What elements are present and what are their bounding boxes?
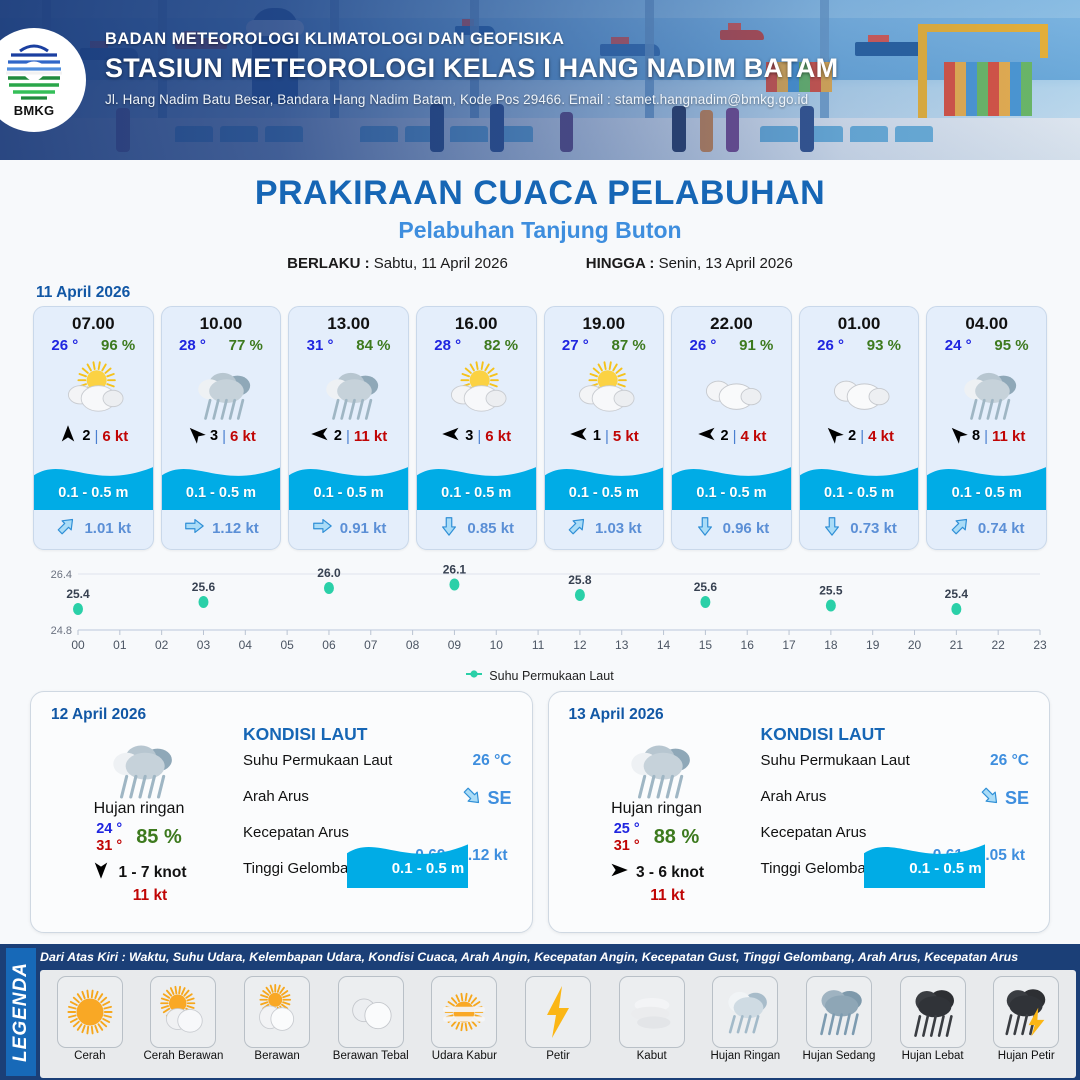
wind-separator: | <box>346 428 350 445</box>
svg-text:05: 05 <box>280 638 294 652</box>
card-wave: 0.1 - 0.5 m <box>34 454 153 510</box>
hourly-card: 13.00 31 ° 84 % 2 | 11 kt 0.1 - 0.5 m 0.… <box>288 306 409 550</box>
wind-direction-icon <box>697 424 717 448</box>
hujan-ringan-icon <box>289 354 408 420</box>
wind-direction-icon <box>569 424 589 448</box>
card-current: 0.73 kt <box>800 510 919 549</box>
legend-item: Hujan Lebat <box>886 976 980 1076</box>
card-humidity: 91 % <box>739 337 773 354</box>
card-temperature: 31 ° <box>307 337 334 354</box>
sst-chart-svg: 26.424.800010203040506070809101112131415… <box>30 564 1050 660</box>
legend-item: Petir <box>511 976 605 1076</box>
cloud-thick-icon <box>338 976 404 1048</box>
wind-separator: | <box>860 428 864 445</box>
daily-wave-value: 0.1 - 0.5 m <box>864 860 1027 877</box>
card-current: 0.96 kt <box>672 510 791 549</box>
header-text-block: BADAN METEOROLOGI KLIMATOLOGI DAN GEOFIS… <box>105 30 1055 107</box>
card-wind: 3 | 6 kt <box>417 420 536 454</box>
hingga-value: Senin, 13 April 2026 <box>659 255 793 272</box>
svg-text:15: 15 <box>699 638 713 652</box>
haze-icon <box>431 976 497 1048</box>
card-wind: 2 | 4 kt <box>672 420 791 454</box>
daily-temp-min: 24 ° <box>96 821 122 838</box>
card-wave: 0.1 - 0.5 m <box>417 454 536 510</box>
wind-direction-icon <box>58 424 78 448</box>
legend-item-label: Hujan Petir <box>998 1050 1055 1062</box>
card-temp-humidity: 24 ° 95 % <box>927 336 1046 354</box>
daily-wind-gust: 11 kt <box>39 887 239 905</box>
hourly-card: 16.00 28 ° 82 % 3 | 6 kt 0.1 - 0.5 m 0.8… <box>416 306 537 550</box>
card-temperature: 24 ° <box>945 337 972 354</box>
wind-direction-icon <box>186 424 206 448</box>
svg-text:01: 01 <box>113 638 127 652</box>
card-wave: 0.1 - 0.5 m <box>162 454 281 510</box>
card-temperature: 26 ° <box>690 337 717 354</box>
card-current: 0.74 kt <box>927 510 1046 549</box>
hujan-ringan-icon <box>162 354 281 420</box>
svg-text:10: 10 <box>490 638 504 652</box>
card-wind-speed: 3 <box>210 428 218 444</box>
daily-date: 12 April 2026 <box>51 706 146 724</box>
daily-temp-min: 25 ° <box>614 821 640 838</box>
card-temp-humidity: 28 ° 82 % <box>417 336 536 354</box>
hourly-card: 07.00 26 ° 96 % 2 | 6 kt 0.1 - 0.5 m 1.0… <box>33 306 154 550</box>
berawan-icon <box>800 354 919 420</box>
daily-wave-graphic: 0.1 - 0.5 m <box>864 832 1027 884</box>
svg-text:08: 08 <box>406 638 420 652</box>
card-wind-gust: 4 kt <box>741 428 767 445</box>
daily-condition: Hujan ringan <box>39 800 239 818</box>
wind-direction-icon <box>824 424 844 448</box>
daily-condition: Hujan ringan <box>557 800 757 818</box>
card-time: 16.00 <box>417 307 536 336</box>
card-wave-height: 0.1 - 0.5 m <box>800 485 919 501</box>
legend-item: Udara Kabur <box>418 976 512 1076</box>
sea-conditions-title: KONDISI LAUT <box>761 724 1036 745</box>
card-wave-height: 0.1 - 0.5 m <box>289 485 408 501</box>
card-wave: 0.1 - 0.5 m <box>545 454 664 510</box>
card-current: 1.12 kt <box>162 510 281 549</box>
svg-text:20: 20 <box>908 638 922 652</box>
light-rain-icon <box>712 976 778 1048</box>
daily-wind: 1 - 7 knot <box>39 860 239 885</box>
berlaku-value: Sabtu, 11 April 2026 <box>374 255 508 272</box>
legend-item: Hujan Sedang <box>792 976 886 1076</box>
card-wind-speed: 1 <box>593 428 601 444</box>
sst-chart: 26.424.800010203040506070809101112131415… <box>30 564 1050 664</box>
svg-text:12: 12 <box>573 638 587 652</box>
sst-label: Suhu Permukaan Laut <box>243 752 392 769</box>
sun-icon <box>57 976 123 1048</box>
card-wave: 0.1 - 0.5 m <box>289 454 408 510</box>
card-wind: 2 | 6 kt <box>34 420 153 454</box>
card-temperature: 28 ° <box>179 337 206 354</box>
hourly-card: 04.00 24 ° 95 % 8 | 11 kt 0.1 - 0.5 m 0.… <box>926 306 1047 550</box>
hourly-card: 10.00 28 ° 77 % 3 | 6 kt 0.1 - 0.5 m 1.1… <box>161 306 282 550</box>
wind-separator: | <box>94 428 98 445</box>
card-wind-gust: 6 kt <box>485 428 511 445</box>
hujan-ringan-icon <box>39 728 239 796</box>
card-temp-humidity: 28 ° 77 % <box>162 336 281 354</box>
daily-wind-range: 1 - 7 knot <box>118 864 186 882</box>
card-temperature: 27 ° <box>562 337 589 354</box>
svg-text:21: 21 <box>950 638 964 652</box>
svg-text:13: 13 <box>615 638 629 652</box>
daily-left-block: Hujan ringan 25 ° 31 ° 88 % 3 - 6 knot 1… <box>557 728 757 905</box>
card-wind-speed: 2 <box>334 428 342 444</box>
card-wave-height: 0.1 - 0.5 m <box>162 485 281 501</box>
svg-text:00: 00 <box>71 638 85 652</box>
chart-legend-marker-icon <box>466 668 482 683</box>
daily-humidity: 85 % <box>136 826 182 849</box>
svg-text:25.5: 25.5 <box>819 584 843 598</box>
cerah-berawan-icon <box>417 354 536 420</box>
daily-temp-max: 31 ° <box>96 838 122 855</box>
card-time: 07.00 <box>34 307 153 336</box>
card-temp-humidity: 27 ° 87 % <box>545 336 664 354</box>
card-current: 1.01 kt <box>34 510 153 549</box>
agency-name: BADAN METEOROLOGI KLIMATOLOGI DAN GEOFIS… <box>105 30 1055 49</box>
card-current-speed: 0.96 kt <box>723 520 770 537</box>
daily-wind-gust: 11 kt <box>557 887 757 905</box>
legend-item: Cerah <box>43 976 137 1076</box>
hingga-label: HINGGA : <box>586 255 655 272</box>
daily-forecast-row: 12 April 2026 Hujan ringan 24 ° 31 ° 85 … <box>0 683 1080 933</box>
sun-cloud-icon <box>150 976 216 1048</box>
daily-wind: 3 - 6 knot <box>557 860 757 885</box>
svg-text:11: 11 <box>532 638 545 652</box>
current-direction-row: Arah Arus SE <box>243 788 518 824</box>
card-wind-gust: 11 kt <box>992 428 1025 445</box>
card-wind-speed: 3 <box>465 428 473 444</box>
svg-text:03: 03 <box>197 638 211 652</box>
card-current: 0.91 kt <box>289 510 408 549</box>
svg-text:22: 22 <box>991 638 1005 652</box>
legend-item: Berawan <box>230 976 324 1076</box>
card-temp-humidity: 26 ° 93 % <box>800 336 919 354</box>
card-time: 04.00 <box>927 307 1046 336</box>
legend-item-label: Cerah <box>74 1050 105 1062</box>
card-wind-speed: 2 <box>848 428 856 444</box>
legend-items: Cerah Cerah Berawan Berawan Berawan Teba… <box>40 970 1076 1078</box>
svg-text:19: 19 <box>866 638 880 652</box>
current-speed-label: Kecepatan Arus <box>243 824 349 841</box>
current-direction-value-group: SE <box>979 785 1029 812</box>
wind-direction-icon <box>948 424 968 448</box>
thunderstorm-icon <box>993 976 1059 1048</box>
legend-item: Hujan Petir <box>979 976 1073 1076</box>
card-temp-humidity: 26 ° 91 % <box>672 336 791 354</box>
svg-text:17: 17 <box>782 638 796 652</box>
card-wind: 2 | 4 kt <box>800 420 919 454</box>
card-time: 19.00 <box>545 307 664 336</box>
bmkg-logo-icon <box>3 42 65 102</box>
card-current-speed: 1.01 kt <box>84 520 131 537</box>
card-wave-height: 0.1 - 0.5 m <box>417 485 536 501</box>
current-direction-icon <box>949 515 971 541</box>
daily-temp-column: 24 ° 31 ° <box>96 821 122 854</box>
legend-item: Kabut <box>605 976 699 1076</box>
hourly-day-label: 11 April 2026 <box>36 284 1080 302</box>
svg-text:14: 14 <box>657 638 671 652</box>
daily-humidity: 88 % <box>654 826 700 849</box>
card-wave: 0.1 - 0.5 m <box>800 454 919 510</box>
card-temp-humidity: 31 ° 84 % <box>289 336 408 354</box>
page-header: BMKG BADAN METEOROLOGI KLIMATOLOGI DAN G… <box>0 0 1080 160</box>
card-time: 13.00 <box>289 307 408 336</box>
svg-text:18: 18 <box>824 638 838 652</box>
svg-text:24.8: 24.8 <box>51 625 72 637</box>
legend-note: Dari Atas Kiri : Waktu, Suhu Udara, Kele… <box>40 950 1076 964</box>
svg-text:26.0: 26.0 <box>317 566 341 580</box>
cloud-sun-small-icon <box>244 976 310 1048</box>
berawan-icon <box>672 354 791 420</box>
card-humidity: 96 % <box>101 337 135 354</box>
legend-item-label: Cerah Berawan <box>144 1050 224 1062</box>
daily-left-block: Hujan ringan 24 ° 31 ° 85 % 1 - 7 knot 1… <box>39 728 239 905</box>
chart-legend-label: Suhu Permukaan Laut <box>489 669 613 683</box>
daily-wind-range: 3 - 6 knot <box>636 864 704 882</box>
daily-temp-column: 25 ° 31 ° <box>614 821 640 854</box>
card-temp-humidity: 26 ° 96 % <box>34 336 153 354</box>
current-direction-icon <box>566 515 588 541</box>
card-wind-gust: 6 kt <box>230 428 256 445</box>
title-block: PRAKIRAAN CUACA PELABUHAN Pelabuhan Tanj… <box>0 160 1080 272</box>
wind-direction-icon <box>91 860 111 885</box>
svg-text:06: 06 <box>322 638 336 652</box>
wind-separator: | <box>477 428 481 445</box>
card-wave-height: 0.1 - 0.5 m <box>545 485 664 501</box>
station-address: Jl. Hang Nadim Batu Besar, Bandara Hang … <box>105 92 1055 107</box>
card-temperature: 26 ° <box>51 337 78 354</box>
current-direction-icon <box>183 515 205 541</box>
sst-value: 26 °C <box>473 752 512 770</box>
card-time: 10.00 <box>162 307 281 336</box>
card-current-speed: 0.91 kt <box>340 520 387 537</box>
card-current-speed: 0.85 kt <box>467 520 514 537</box>
card-wind-gust: 6 kt <box>102 428 128 445</box>
legend-section: LEGENDA Dari Atas Kiri : Waktu, Suhu Uda… <box>0 944 1080 1080</box>
card-current-speed: 0.74 kt <box>978 520 1025 537</box>
current-direction-icon <box>979 785 1001 812</box>
card-current-speed: 0.73 kt <box>850 520 897 537</box>
card-current: 1.03 kt <box>545 510 664 549</box>
legend-item: Berawan Tebal <box>324 976 418 1076</box>
card-wave-height: 0.1 - 0.5 m <box>34 485 153 501</box>
legend-item-label: Hujan Sedang <box>802 1050 875 1062</box>
bmkg-logo-label: BMKG <box>14 103 55 118</box>
hujan-ringan-icon <box>927 354 1046 420</box>
card-humidity: 84 % <box>356 337 390 354</box>
current-direction-icon <box>55 515 77 541</box>
chart-legend: Suhu Permukaan Laut <box>0 668 1080 683</box>
cerah-berawan-icon <box>34 354 153 420</box>
wind-separator: | <box>984 428 988 445</box>
station-name: STASIUN METEOROLOGI KELAS I HANG NADIM B… <box>105 53 1055 84</box>
lightning-icon <box>525 976 591 1048</box>
current-direction-icon <box>311 515 333 541</box>
svg-text:25.4: 25.4 <box>945 587 969 601</box>
legend-item: Hujan Ringan <box>698 976 792 1076</box>
card-humidity: 87 % <box>612 337 646 354</box>
validity-row: BERLAKU : Sabtu, 11 April 2026 HINGGA : … <box>0 255 1080 272</box>
card-time: 01.00 <box>800 307 919 336</box>
card-wave: 0.1 - 0.5 m <box>672 454 791 510</box>
card-wind-gust: 11 kt <box>354 428 387 445</box>
card-humidity: 93 % <box>867 337 901 354</box>
card-current-speed: 1.12 kt <box>212 520 259 537</box>
card-time: 22.00 <box>672 307 791 336</box>
svg-text:04: 04 <box>239 638 253 652</box>
current-direction-value-group: SE <box>461 785 511 812</box>
current-direction-value: SE <box>487 788 511 809</box>
card-wind-speed: 2 <box>721 428 729 444</box>
card-temperature: 28 ° <box>434 337 461 354</box>
svg-text:25.8: 25.8 <box>568 573 592 587</box>
heavy-rain-icon <box>900 976 966 1048</box>
current-direction-label: Arah Arus <box>243 788 309 805</box>
current-speed-label: Kecepatan Arus <box>761 824 867 841</box>
card-wave: 0.1 - 0.5 m <box>927 454 1046 510</box>
svg-text:25.4: 25.4 <box>66 587 90 601</box>
current-direction-icon <box>821 515 843 541</box>
card-wind-gust: 4 kt <box>868 428 894 445</box>
current-direction-icon <box>694 515 716 541</box>
daily-wave-graphic: 0.1 - 0.5 m <box>347 832 510 884</box>
card-humidity: 77 % <box>229 337 263 354</box>
legend-item-label: Udara Kabur <box>432 1050 497 1062</box>
svg-text:25.6: 25.6 <box>192 580 216 594</box>
sst-label: Suhu Permukaan Laut <box>761 752 910 769</box>
cerah-berawan-icon <box>545 354 664 420</box>
hujan-ringan-icon <box>557 728 757 796</box>
fog-icon <box>619 976 685 1048</box>
wind-separator: | <box>605 428 609 445</box>
daily-forecast-panel: 13 April 2026 Hujan ringan 25 ° 31 ° 88 … <box>548 691 1051 933</box>
card-humidity: 95 % <box>994 337 1028 354</box>
daily-sea-block: KONDISI LAUT Suhu Permukaan Laut 26 °C A… <box>243 724 518 896</box>
current-direction-value: SE <box>1005 788 1029 809</box>
card-wave-height: 0.1 - 0.5 m <box>672 485 791 501</box>
sst-value: 26 °C <box>990 752 1029 770</box>
current-direction-icon <box>461 785 483 812</box>
svg-text:07: 07 <box>364 638 378 652</box>
hourly-card: 22.00 26 ° 91 % 2 | 4 kt 0.1 - 0.5 m 0.9… <box>671 306 792 550</box>
current-direction-icon <box>438 515 460 541</box>
svg-text:26.4: 26.4 <box>51 569 72 581</box>
card-wind: 3 | 6 kt <box>162 420 281 454</box>
svg-text:26.1: 26.1 <box>443 563 467 577</box>
card-wind: 1 | 5 kt <box>545 420 664 454</box>
card-current: 0.85 kt <box>417 510 536 549</box>
card-temperature: 26 ° <box>817 337 844 354</box>
daily-sea-block: KONDISI LAUT Suhu Permukaan Laut 26 °C A… <box>761 724 1036 896</box>
svg-text:25.6: 25.6 <box>694 580 718 594</box>
page-subtitle: Pelabuhan Tanjung Buton <box>0 217 1080 244</box>
sea-conditions-title: KONDISI LAUT <box>243 724 518 745</box>
wind-separator: | <box>222 428 226 445</box>
daily-temps: 24 ° 31 ° 85 % <box>39 821 239 854</box>
card-wave-height: 0.1 - 0.5 m <box>927 485 1046 501</box>
legend-side-label: LEGENDA <box>10 962 32 1062</box>
svg-text:02: 02 <box>155 638 169 652</box>
card-current-speed: 1.03 kt <box>595 520 642 537</box>
hingga-group: HINGGA : Senin, 13 April 2026 <box>586 255 793 272</box>
wind-separator: | <box>733 428 737 445</box>
daily-date: 13 April 2026 <box>569 706 664 724</box>
hourly-card: 19.00 27 ° 87 % 1 | 5 kt 0.1 - 0.5 m 1.0… <box>544 306 665 550</box>
svg-text:23: 23 <box>1033 638 1047 652</box>
page-title: PRAKIRAAN CUACA PELABUHAN <box>0 174 1080 213</box>
moderate-rain-icon <box>806 976 872 1048</box>
legend-side-banner: LEGENDA <box>6 948 36 1076</box>
svg-text:16: 16 <box>741 638 755 652</box>
card-humidity: 82 % <box>484 337 518 354</box>
legend-item-label: Kabut <box>637 1050 667 1062</box>
wind-direction-icon <box>310 424 330 448</box>
card-wind: 2 | 11 kt <box>289 420 408 454</box>
daily-temp-max: 31 ° <box>614 838 640 855</box>
card-wind: 8 | 11 kt <box>927 420 1046 454</box>
legend-item-label: Berawan Tebal <box>333 1050 409 1062</box>
sst-row: Suhu Permukaan Laut 26 °C <box>243 752 518 788</box>
card-wind-gust: 5 kt <box>613 428 639 445</box>
card-wind-speed: 2 <box>82 428 90 444</box>
card-wind-speed: 8 <box>972 428 980 444</box>
wind-direction-icon <box>441 424 461 448</box>
hourly-card: 01.00 26 ° 93 % 2 | 4 kt 0.1 - 0.5 m 0.7… <box>799 306 920 550</box>
legend-item-label: Hujan Ringan <box>710 1050 780 1062</box>
legend-item-label: Hujan Lebat <box>902 1050 964 1062</box>
berlaku-label: BERLAKU : <box>287 255 370 272</box>
hourly-forecast-cards: 07.00 26 ° 96 % 2 | 6 kt 0.1 - 0.5 m 1.0… <box>0 306 1080 550</box>
daily-temps: 25 ° 31 ° 88 % <box>557 821 757 854</box>
current-direction-row: Arah Arus SE <box>761 788 1036 824</box>
svg-text:09: 09 <box>448 638 462 652</box>
legend-item-label: Petir <box>546 1050 570 1062</box>
wind-direction-icon <box>609 860 629 885</box>
legend-item: Cerah Berawan <box>137 976 231 1076</box>
current-direction-label: Arah Arus <box>761 788 827 805</box>
legend-item-label: Berawan <box>254 1050 299 1062</box>
sst-row: Suhu Permukaan Laut 26 °C <box>761 752 1036 788</box>
berlaku-group: BERLAKU : Sabtu, 11 April 2026 <box>287 255 508 272</box>
daily-forecast-panel: 12 April 2026 Hujan ringan 24 ° 31 ° 85 … <box>30 691 533 933</box>
daily-wave-value: 0.1 - 0.5 m <box>347 860 510 877</box>
